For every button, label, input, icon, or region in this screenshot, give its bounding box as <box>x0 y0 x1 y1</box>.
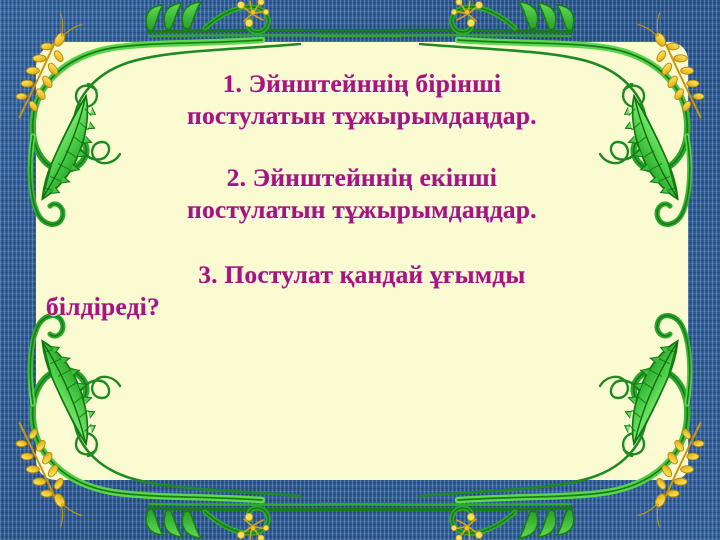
question-2-line-1: 2. Эйнштейннің екінші <box>36 162 688 194</box>
question-3-line-1: 3. Постулат қандай ұғымды <box>36 259 688 291</box>
question-1-line-2: постулатын тұжырымдаңдар. <box>36 100 688 132</box>
question-2-line-2: постулатын тұжырымдаңдар. <box>36 194 688 226</box>
question-3-line-2: білдіреді? <box>36 291 688 323</box>
question-2: 2. Эйнштейннің екінші постулатын тұжырым… <box>36 162 688 226</box>
slide-canvas: 1. Эйнштейннің бірінші постулатын тұжыры… <box>0 0 720 540</box>
slide-text-content: 1. Эйнштейннің бірінші постулатын тұжыры… <box>36 42 688 480</box>
question-1-line-1: 1. Эйнштейннің бірінші <box>36 68 688 100</box>
question-3: 3. Постулат қандай ұғымды білдіреді? <box>36 259 688 323</box>
question-1: 1. Эйнштейннің бірінші постулатын тұжыры… <box>36 68 688 132</box>
